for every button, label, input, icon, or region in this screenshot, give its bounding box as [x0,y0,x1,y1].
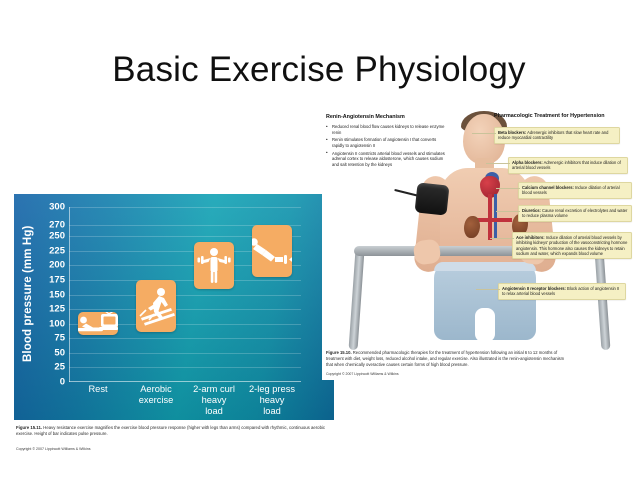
left-figure-caption: Figure 15.11. Heavy resistance exercise … [16,425,330,437]
pharmacologic-treatment-block: Pharmacologic Treatment for Hypertension [490,112,634,124]
y-axis-tick-label: 200 [49,261,65,270]
left-figure-caption-text: Heavy resistance exercise magnifies the … [16,425,325,436]
right-figure-copyright: Copyright © 2007 Lippincott Williams & W… [326,372,506,377]
callout-leader-line [496,211,520,212]
pharmacologic-callout[interactable]: Calcium channel blockers: Induce dilatio… [518,182,632,199]
y-axis-tick-label: 300 [49,203,65,212]
gridline [69,338,301,339]
pharmacologic-callout[interactable]: Angiotensin II receptor blockers: Block … [498,283,626,300]
pharmacologic-callout[interactable]: Beta blockers: Adrenergic inhibitors tha… [494,127,620,144]
x-axis-tick-label: Aerobic exercise [127,384,185,406]
renin-angiotensin-bullet: Angiotensin II constricts arterial blood… [326,151,448,168]
gridline [69,353,301,354]
y-axis-tick-label: 175 [49,275,65,284]
bp-cuff-icon [415,182,450,215]
x-axis-line [69,381,301,382]
treadmill-anatomy-illustration: Renin-Angiotensin Mechanism Reduced rena… [322,110,634,350]
right-figure-hypertension-treatment: Renin-Angiotensin Mechanism Reduced rena… [322,110,634,380]
y-axis-tick-label: 25 [54,363,65,372]
y-axis-tick-label: 250 [49,232,65,241]
chart-bar[interactable] [194,242,234,289]
renin-angiotensin-bullet: Reduced renal blood flow causes kidneys … [326,124,448,135]
page-title: Basic Exercise Physiology [0,48,638,92]
renin-angiotensin-bullet: Renin stimulates formation of angiotensi… [326,137,448,148]
y-axis-tick-label: 75 [54,334,65,343]
chart-bar[interactable] [78,312,118,335]
left-figure-copyright: Copyright © 2007 Lippincott Williams & W… [16,447,216,452]
y-axis-tick-label: 100 [49,319,65,328]
pharmacologic-callout[interactable]: Ace inhibitors: Induce dilation of arter… [512,232,632,259]
treadmill-rail-left [349,250,365,350]
gridline [69,309,301,310]
y-axis-tick-label: 125 [49,305,65,314]
person-shorts-gap [475,308,495,342]
renin-angiotensin-bullet-list: Reduced renal blood flow causes kidneys … [326,124,448,168]
chart-bar[interactable] [136,280,176,333]
y-axis-tick-label: 270 [49,220,65,229]
chart-bar[interactable] [252,225,292,278]
pharmacologic-callout[interactable]: Alpha blockers: Adrenergic inhibitors th… [508,157,628,174]
left-figure-blood-pressure-chart: Blood pressure (mm Hg) 02550751001251501… [14,194,334,460]
renin-angiotensin-title: Renin-Angiotensin Mechanism [326,113,448,121]
y-axis-tick-label: 50 [54,348,65,357]
y-axis-tick-label: 225 [49,246,65,255]
right-figure-caption: Figure 15.10. Recommended pharmacologic … [326,350,566,367]
vena-cava-vessel [494,194,497,238]
callout-leader-line [486,163,510,164]
person-shorts-waistband [434,262,536,271]
gridline [69,280,301,281]
gridline [69,367,301,368]
callout-leader-line [472,133,496,134]
gridline [69,207,301,208]
chart-panel: Blood pressure (mm Hg) 02550751001251501… [14,194,334,420]
renin-angiotensin-block: Renin-Angiotensin Mechanism Reduced rena… [326,113,448,170]
gridline [69,295,301,296]
pharmacologic-treatment-title: Pharmacologic Treatment for Hypertension [494,112,634,120]
plot-area: 0255075100125150175200225250270300 [69,207,301,382]
y-axis-title: Blood pressure (mm Hg) [19,208,37,380]
pharmacologic-callout[interactable]: Diuretics: Cause renal excretion of elec… [518,205,632,222]
x-axis-tick-label: 2-leg press heavy load [243,384,301,418]
right-figure-caption-text: Recommended pharmacologic therapies for … [326,350,564,367]
callout-leader-line [476,289,500,290]
y-axis-tick-label: 150 [49,290,65,299]
left-figure-caption-label: Figure 15.11. [16,425,42,430]
aorta-vessel [488,194,492,240]
y-axis-tick-label: 0 [60,378,65,387]
right-figure-caption-label: Figure 15.10. [326,350,352,355]
callout-leader-line [496,188,520,189]
callout-leader-line [490,238,514,239]
treadmill-rail-right [595,250,611,350]
x-axis-tick-label: Rest [69,384,127,395]
x-axis-tick-label: 2-arm curl heavy load [185,384,243,418]
